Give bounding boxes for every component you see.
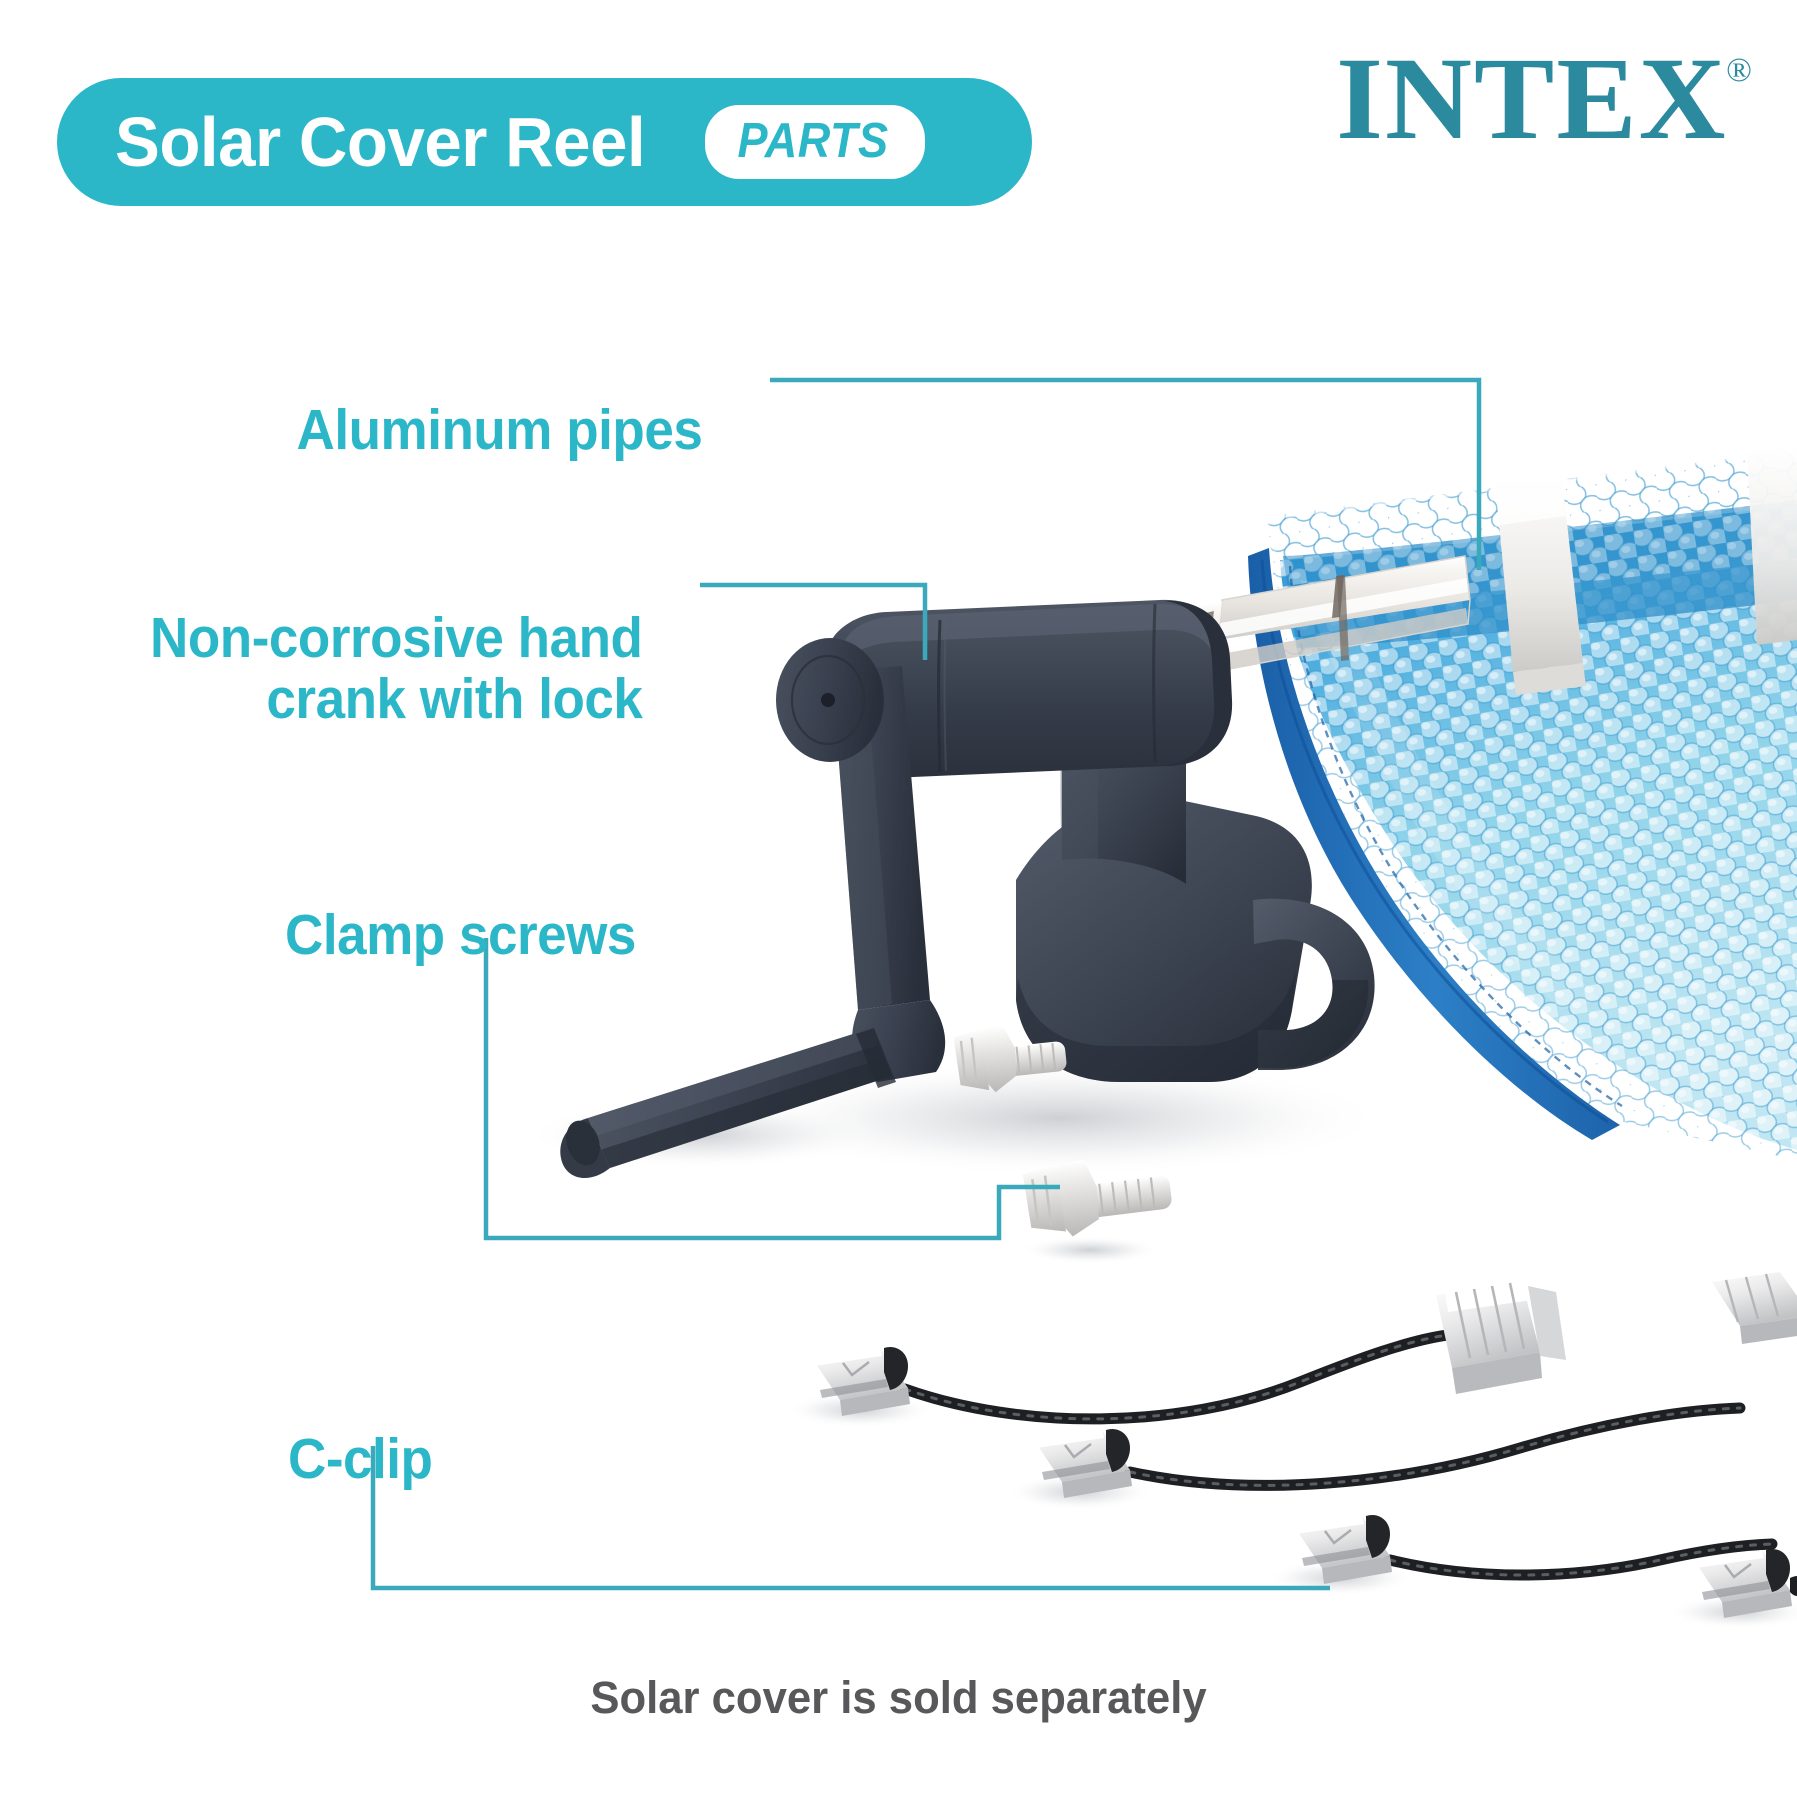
- footer-note: Solar cover is sold separately: [27, 1672, 1770, 1724]
- product-illustration: [0, 0, 1797, 1797]
- callout-hand-crank: Non-corrosive hand crank with lock: [150, 548, 642, 729]
- c-clip-5: [1668, 1549, 1797, 1629]
- c-clip-set: [786, 1272, 1797, 1629]
- infographic-canvas: Solar Cover Reel PARTS INTEX ®: [0, 0, 1797, 1797]
- pivot-screw-hole: [821, 693, 835, 707]
- c-clip-bracket: [1436, 1274, 1566, 1394]
- callout-clamp-screws: Clamp screws: [285, 845, 636, 966]
- cord-1: [905, 1335, 1448, 1419]
- callout-clamp-screws-label: Clamp screws: [285, 903, 636, 967]
- callout-aluminum-pipes-label: Aluminum pipes: [296, 398, 702, 462]
- callout-hand-crank-label: Non-corrosive hand crank with lock: [150, 606, 642, 730]
- c-clip-4: [1712, 1272, 1797, 1344]
- cord-2: [1130, 1408, 1740, 1485]
- callout-c-clip-label: C-clip: [288, 1427, 432, 1491]
- callout-aluminum-pipes: Aluminum pipes: [296, 340, 702, 461]
- footer-note-text: Solar cover is sold separately: [590, 1672, 1206, 1723]
- callout-c-clip: C-clip: [288, 1369, 432, 1490]
